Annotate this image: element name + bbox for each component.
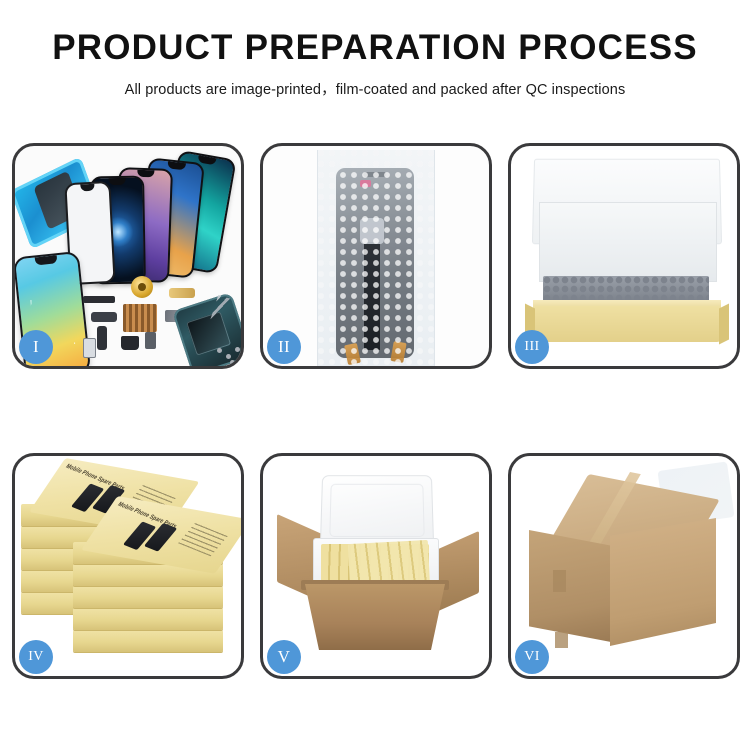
- flex-cable-icon: [97, 326, 107, 350]
- page-title: PRODUCT PREPARATION PROCESS: [0, 30, 750, 67]
- kraft-box-tray-icon: [533, 306, 721, 342]
- page-subtitle: All products are image-printed，film-coat…: [0, 78, 750, 99]
- carton-front-icon: [305, 584, 445, 650]
- step-5-image: [263, 456, 489, 676]
- step-6-image: [511, 456, 737, 676]
- product-preparation-infographic: PRODUCT PREPARATION PROCESS All products…: [0, 0, 750, 750]
- sim-tray-icon: [83, 338, 96, 358]
- carton-seam: [555, 632, 568, 648]
- bar-part-icon: [83, 296, 115, 303]
- bubble-bag-icon: [317, 150, 435, 366]
- step-4-image: Mobile Phone Spare Parts Mobile Phone Sp…: [15, 456, 241, 676]
- flex-cable-icon: [169, 288, 195, 298]
- step-panel-6: VI: [508, 453, 740, 679]
- step-badge-2: II: [267, 330, 301, 364]
- step-1-image: [15, 146, 241, 366]
- step-panel-3: III: [508, 143, 740, 369]
- box-stack-group: Mobile Phone Spare Parts Mobile Phone Sp…: [21, 470, 241, 670]
- spare-parts-group: [77, 274, 241, 366]
- stacked-box: [73, 630, 223, 652]
- step-badge-1: I: [19, 330, 53, 364]
- step-3-image: [511, 146, 737, 366]
- step-panel-2: II: [260, 143, 492, 369]
- stacked-box: [73, 586, 223, 608]
- flex-cable-icon: [91, 312, 117, 322]
- carton-right-face: [610, 518, 716, 646]
- step-panel-5: V: [260, 453, 492, 679]
- screws-icon: [217, 346, 241, 364]
- foam-sheet-icon: [539, 202, 717, 282]
- header: PRODUCT PREPARATION PROCESS All products…: [0, 0, 750, 99]
- bubble-overlay: [318, 150, 434, 366]
- step-badge-6: VI: [515, 640, 549, 674]
- step-2-image: [263, 146, 489, 366]
- phone-fan-group: [73, 152, 233, 277]
- carton-seam: [553, 570, 566, 592]
- carton-left-face: [529, 530, 611, 642]
- stacked-box: [73, 608, 223, 630]
- step-panel-1: I: [12, 143, 244, 369]
- step-panel-4: Mobile Phone Spare Parts Mobile Phone Sp…: [12, 453, 244, 679]
- speaker-part-icon: [121, 336, 139, 350]
- step-badge-3: III: [515, 330, 549, 364]
- step-badge-5: V: [267, 640, 301, 674]
- box-spec-lines: [178, 522, 228, 556]
- foam-lid-icon: [320, 475, 434, 546]
- copper-grid-part-icon: [123, 304, 157, 332]
- battery-part-icon: [145, 332, 156, 349]
- coil-part-icon: [131, 276, 153, 298]
- step-badge-4: IV: [19, 640, 53, 674]
- steps-grid: I II: [12, 143, 740, 679]
